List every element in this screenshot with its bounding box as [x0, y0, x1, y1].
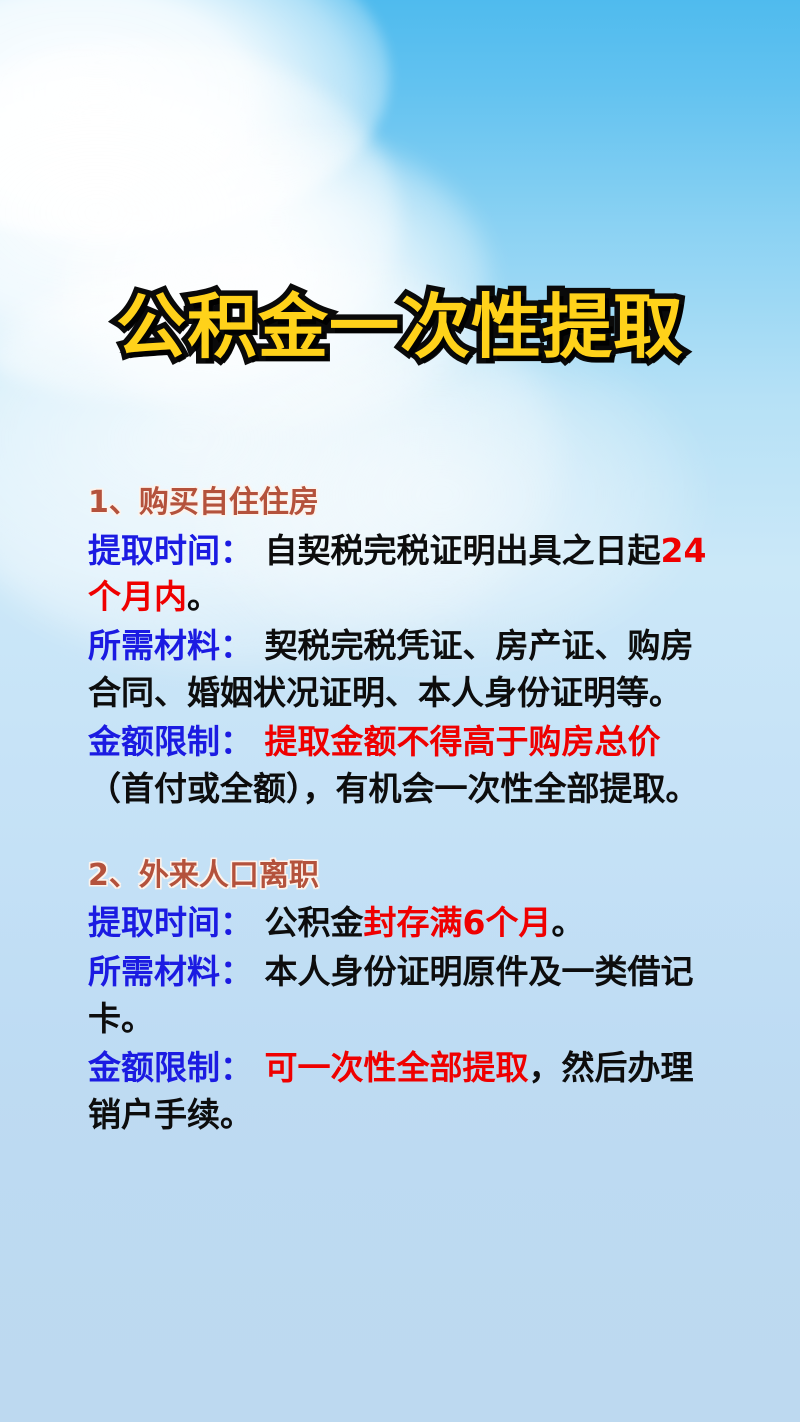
detail-row-text: 自契税完税证明出具之日起 — [265, 531, 661, 570]
content-body: 1、购买自住住房提取时间 自契税完税证明出具之日起24个月内。所需材料 契税完税… — [88, 484, 708, 1140]
detail-row-highlight: 封存满6个月 — [364, 903, 552, 942]
detail-row-label: 所需材料 — [88, 626, 253, 665]
cloud-shape — [0, 0, 390, 240]
detail-row-label: 金额限制 — [88, 1048, 253, 1087]
detail-row: 所需材料 契税完税凭证、房产证、购房合同、婚姻状况证明、本人身份证明等。 — [88, 623, 708, 717]
detail-row-text: （首付或全额），有机会一次性全部提取。 — [88, 769, 699, 808]
detail-row-highlight: 提取金额不得高于购房总价 — [265, 722, 661, 761]
title-area: 公积金一次性提取 — [0, 292, 800, 362]
detail-row: 提取时间 公积金封存满6个月。 — [88, 900, 708, 947]
detail-row-text: 。 — [551, 903, 584, 942]
detail-row-label: 提取时间 — [88, 531, 253, 570]
detail-row: 提取时间 自契税完税证明出具之日起24个月内。 — [88, 528, 708, 622]
detail-row-label: 金额限制 — [88, 722, 253, 761]
content-section: 2、外来人口离职提取时间 公积金封存满6个月。所需材料 本人身份证明原件及一类借… — [88, 857, 708, 1139]
detail-row-text: 。 — [187, 577, 220, 616]
detail-row-text: 公积金 — [265, 903, 364, 942]
detail-row: 所需材料 本人身份证明原件及一类借记卡。 — [88, 949, 708, 1043]
section-heading: 2、外来人口离职 — [88, 857, 708, 895]
content-section: 1、购买自住住房提取时间 自契税完税证明出具之日起24个月内。所需材料 契税完税… — [88, 484, 708, 813]
section-heading: 1、购买自住住房 — [88, 484, 708, 522]
cloud-shape — [60, 130, 490, 430]
detail-row: 金额限制 提取金额不得高于购房总价（首付或全额），有机会一次性全部提取。 — [88, 719, 708, 813]
detail-row-highlight: 可一次性全部提取 — [265, 1048, 529, 1087]
page-title: 公积金一次性提取 — [116, 292, 684, 362]
detail-row-label: 所需材料 — [88, 952, 253, 991]
detail-row: 金额限制 可一次性全部提取，然后办理销户手续。 — [88, 1045, 708, 1139]
poster-canvas: 公积金一次性提取 1、购买自住住房提取时间 自契税完税证明出具之日起24个月内。… — [0, 0, 800, 1422]
detail-row-label: 提取时间 — [88, 903, 253, 942]
